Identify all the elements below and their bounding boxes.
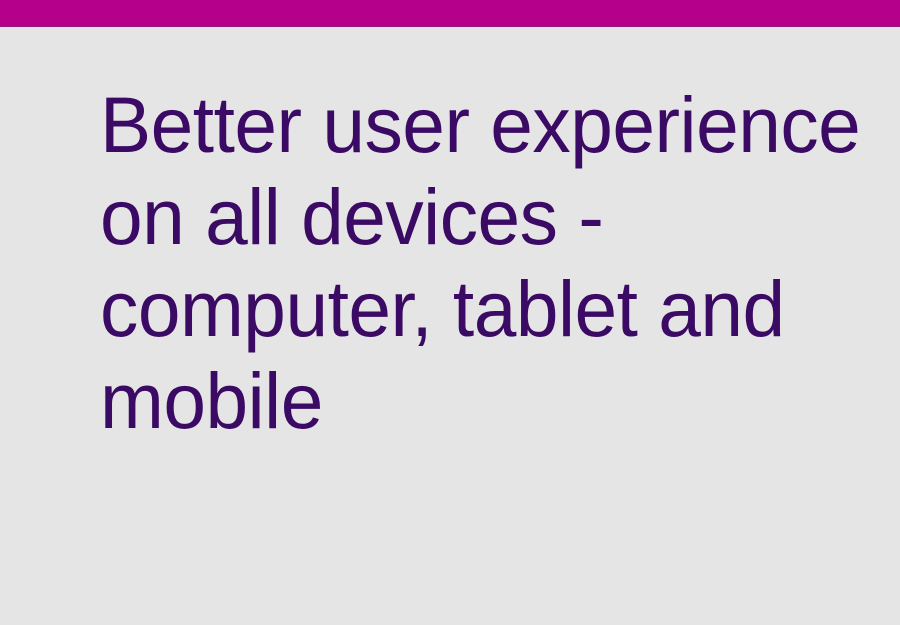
top-accent-band-underline: [0, 25, 900, 27]
headline-block: Better user experience on all devices - …: [100, 79, 890, 447]
top-accent-band: [0, 0, 900, 27]
slide-headline: Better user experience on all devices - …: [100, 79, 866, 447]
slide-canvas: Better user experience on all devices - …: [0, 0, 900, 625]
